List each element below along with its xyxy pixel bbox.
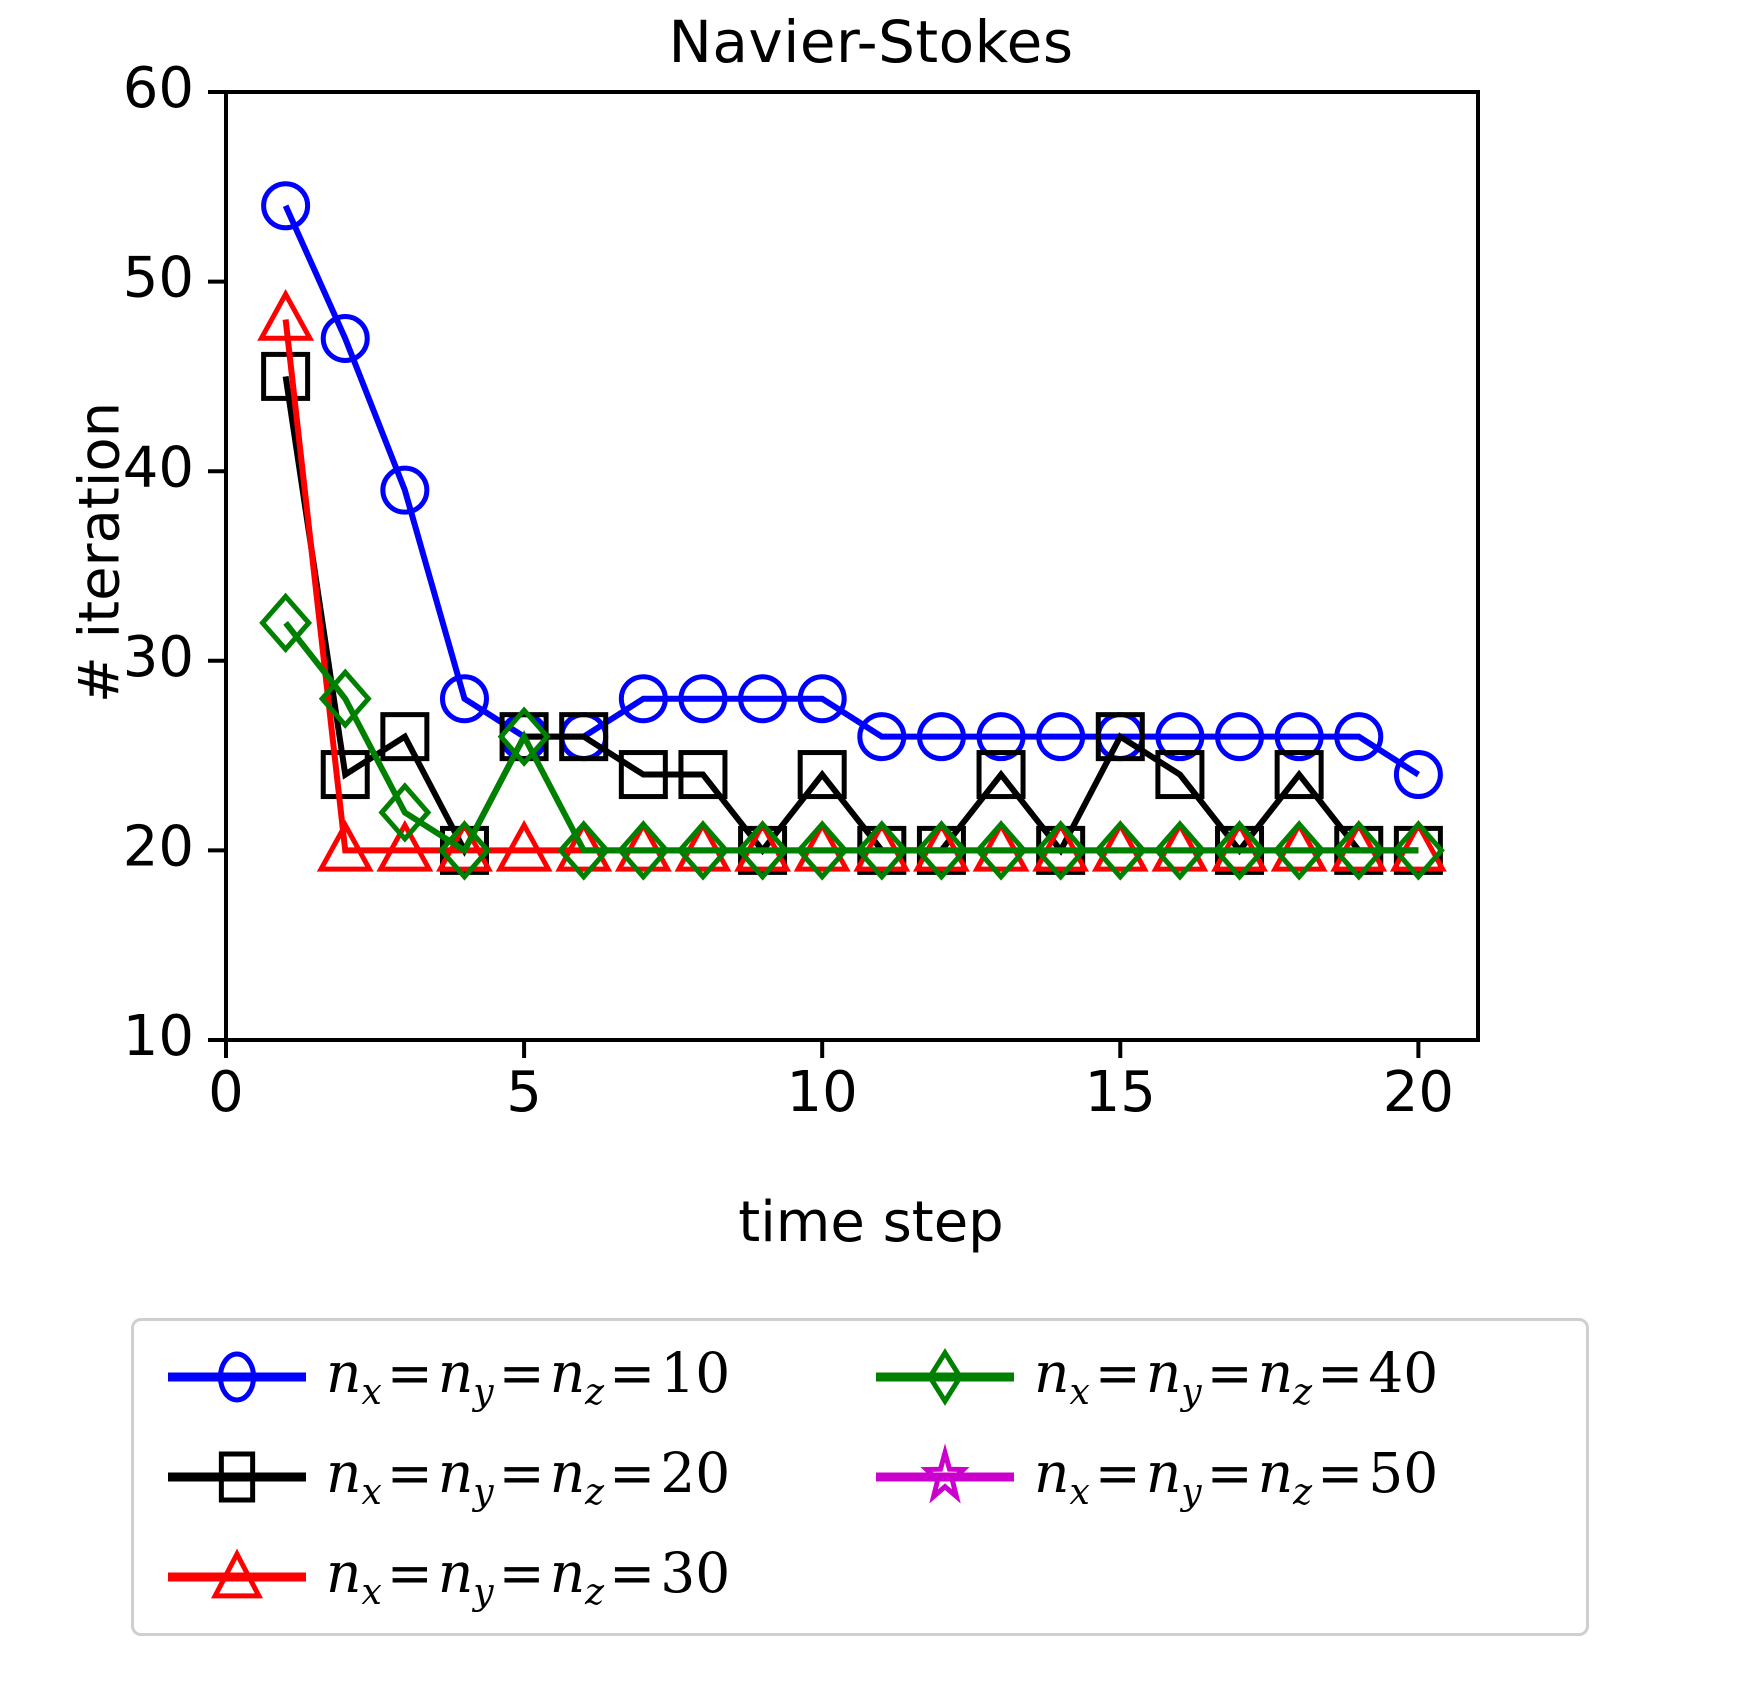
y-tick-label: 50: [123, 246, 194, 311]
legend-marker-circle: [162, 1342, 312, 1412]
series-0: [264, 184, 1441, 797]
legend-item-label: nx=ny=nz=10: [326, 1341, 730, 1413]
legend-swatch-circle-icon: [162, 1342, 312, 1412]
legend-swatch-triangle-icon: [162, 1542, 312, 1612]
data-point-triangle: [381, 825, 429, 869]
series-line: [286, 320, 1419, 851]
y-tick-label: 40: [123, 435, 194, 500]
legend-item-label: nx=ny=nz=40: [1034, 1341, 1438, 1413]
legend-swatch-square-icon: [162, 1442, 312, 1512]
legend-grid: nx=ny=nz=10nx=ny=nz=40nx=ny=nz=20nx=ny=n…: [134, 1321, 1586, 1633]
legend-item-50[interactable]: nx=ny=nz=50: [860, 1441, 1568, 1513]
y-axis-label: # iteration: [68, 253, 133, 853]
x-axis-label: time step: [0, 1190, 1742, 1255]
legend-item-20[interactable]: nx=ny=nz=20: [152, 1441, 860, 1513]
series-line: [286, 376, 1419, 850]
legend-item-10[interactable]: nx=ny=nz=10: [152, 1341, 860, 1413]
legend-marker-diamond: [870, 1342, 1020, 1412]
data-point-triangle: [500, 825, 548, 869]
x-tick-label: 15: [1085, 1060, 1156, 1125]
x-tick-label: 10: [787, 1060, 858, 1125]
x-tick-label: 20: [1383, 1060, 1454, 1125]
series-line: [286, 206, 1419, 775]
series-2: [261, 294, 1442, 869]
legend-item-40[interactable]: nx=ny=nz=40: [860, 1341, 1568, 1413]
y-tick-label: 30: [123, 625, 194, 690]
chart-figure: Navier-Stokes 10203040506005101520 time …: [0, 0, 1742, 1688]
legend-marker-star: [870, 1442, 1020, 1512]
legend-item-label: nx=ny=nz=20: [326, 1441, 730, 1513]
x-tick-label: 0: [208, 1060, 244, 1125]
legend-item-label: nx=ny=nz=50: [1034, 1441, 1438, 1513]
legend-item-30[interactable]: nx=ny=nz=30: [152, 1541, 860, 1613]
legend-item-label: nx=ny=nz=30: [326, 1541, 730, 1613]
legend-marker-square: [162, 1442, 312, 1512]
axes-frame: [226, 92, 1478, 1040]
y-tick-label: 10: [123, 1004, 194, 1069]
plot-area: 10203040506005101520: [0, 0, 1742, 1190]
y-tick-label: 20: [123, 815, 194, 880]
legend-marker-triangle: [162, 1542, 312, 1612]
legend-swatch-diamond-icon: [870, 1342, 1020, 1412]
legend: nx=ny=nz=10nx=ny=nz=40nx=ny=nz=20nx=ny=n…: [131, 1318, 1589, 1636]
y-tick-label: 60: [123, 56, 194, 121]
x-tick-label: 5: [506, 1060, 542, 1125]
legend-swatch-star-icon: [870, 1442, 1020, 1512]
